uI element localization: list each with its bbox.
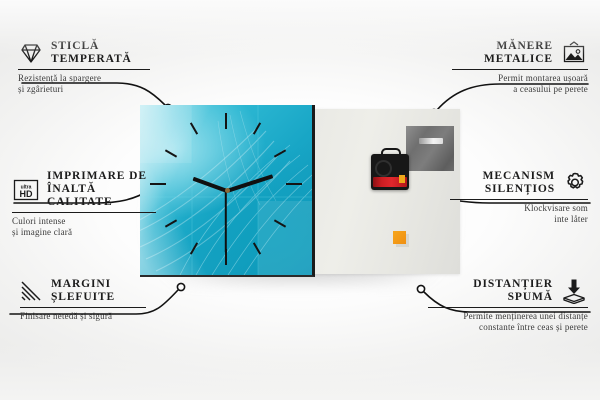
- diamond-icon: [18, 42, 44, 64]
- diagonal-hatch-icon: [20, 280, 44, 302]
- callout-silent-mechanism: MECANISM SILENȚIOS Klockvisare som inte …: [450, 170, 588, 225]
- callout-subtitle-line1: Rezistență la spargere: [18, 73, 150, 84]
- callout-subtitle-line1: Klockvisare som: [450, 203, 588, 214]
- callout-subtitle-line1: Finisare netedă și sigură: [20, 311, 146, 322]
- callout-title-line1: IMPRIMARE DE: [47, 170, 156, 183]
- picture-hanger-icon: [560, 41, 588, 65]
- callout-title-line2: ÎNALTĂ CALITATE: [47, 183, 156, 209]
- callout-subtitle-line1: Permite menținerea unei distanțe: [428, 311, 588, 322]
- callout-divider: [428, 307, 588, 308]
- callout-subtitle-line2: și zgârieturi: [18, 84, 150, 95]
- callout-title-line1: MARGINI: [51, 278, 115, 291]
- glass-clock-face: [140, 105, 315, 277]
- callout-header: MECANISM SILENȚIOS: [450, 170, 588, 196]
- callout-header: MARGINI ȘLEFUITE: [20, 278, 146, 304]
- battery: [373, 177, 407, 187]
- callout-subtitle-line1: Permit montarea ușoară: [452, 73, 588, 84]
- hour-mark: [225, 113, 227, 129]
- metal-hanger: [406, 126, 454, 171]
- battery-terminal: [399, 175, 405, 183]
- callout-title-line1: MECANISM: [483, 170, 555, 183]
- mechanism-hook: [381, 148, 401, 159]
- callout-title-line2: ȘLEFUITE: [51, 291, 115, 304]
- callout-title-line1: DISTANȚIER: [473, 278, 553, 291]
- callout-subtitle-line2: constante între ceas și perete: [428, 322, 588, 333]
- callout-divider: [452, 69, 588, 70]
- callout-title-line1: MĂNERE: [484, 40, 553, 53]
- callout-header: ultra HD IMPRIMARE DE ÎNALTĂ CALITATE: [12, 170, 156, 209]
- hanger-slot: [419, 138, 443, 144]
- ultra-hd-icon: ultra HD: [12, 178, 40, 202]
- callout-subtitle-line1: Culori intense: [12, 216, 156, 227]
- callout-title-line2: SILENȚIOS: [483, 183, 555, 196]
- down-arrow-pad-icon: [560, 278, 588, 304]
- callout-divider: [450, 199, 588, 200]
- infographic-canvas: STICLĂ TEMPERATĂ Rezistență la spargere …: [0, 0, 600, 400]
- callout-metal-handles: MĂNERE METALICE Permit montarea ușoară a…: [452, 40, 588, 95]
- back-panel: [305, 109, 460, 274]
- callout-subtitle-line2: și imagine clară: [12, 227, 156, 238]
- callout-hd-print: ultra HD IMPRIMARE DE ÎNALTĂ CALITATE Cu…: [12, 170, 156, 238]
- product-illustration: [140, 105, 460, 280]
- hour-mark: [286, 183, 302, 185]
- callout-divider: [18, 69, 150, 70]
- callout-subtitle-line2: a ceasului pe perete: [452, 84, 588, 95]
- second-hand: [225, 191, 227, 253]
- callout-header: DISTANȚIER SPUMĂ: [428, 278, 588, 304]
- callout-title-line1: STICLĂ: [51, 40, 132, 53]
- callout-subtitle-line2: inte låter: [450, 214, 588, 225]
- leader-endpoint-foam-spacer: [417, 285, 424, 292]
- callout-header: STICLĂ TEMPERATĂ: [18, 40, 150, 66]
- callout-polished-edges: MARGINI ȘLEFUITE Finisare netedă și sigu…: [20, 278, 146, 322]
- gear-icon: [562, 171, 588, 195]
- callout-tempered-glass: STICLĂ TEMPERATĂ Rezistență la spargere …: [18, 40, 150, 95]
- hand-hub: [225, 188, 230, 193]
- callout-foam-spacer: DISTANȚIER SPUMĂ Permite menținerea unei…: [428, 278, 588, 333]
- foam-spacer: [393, 231, 406, 244]
- callout-divider: [12, 212, 156, 213]
- callout-header: MĂNERE METALICE: [452, 40, 588, 66]
- callout-divider: [20, 307, 146, 308]
- callout-title-line2: METALICE: [484, 53, 553, 66]
- callout-title-line2: TEMPERATĂ: [51, 53, 132, 66]
- svg-text:HD: HD: [20, 189, 33, 199]
- mechanism-dial: [375, 160, 392, 177]
- callout-title-line2: SPUMĂ: [473, 291, 553, 304]
- clock-mechanism: [371, 154, 409, 190]
